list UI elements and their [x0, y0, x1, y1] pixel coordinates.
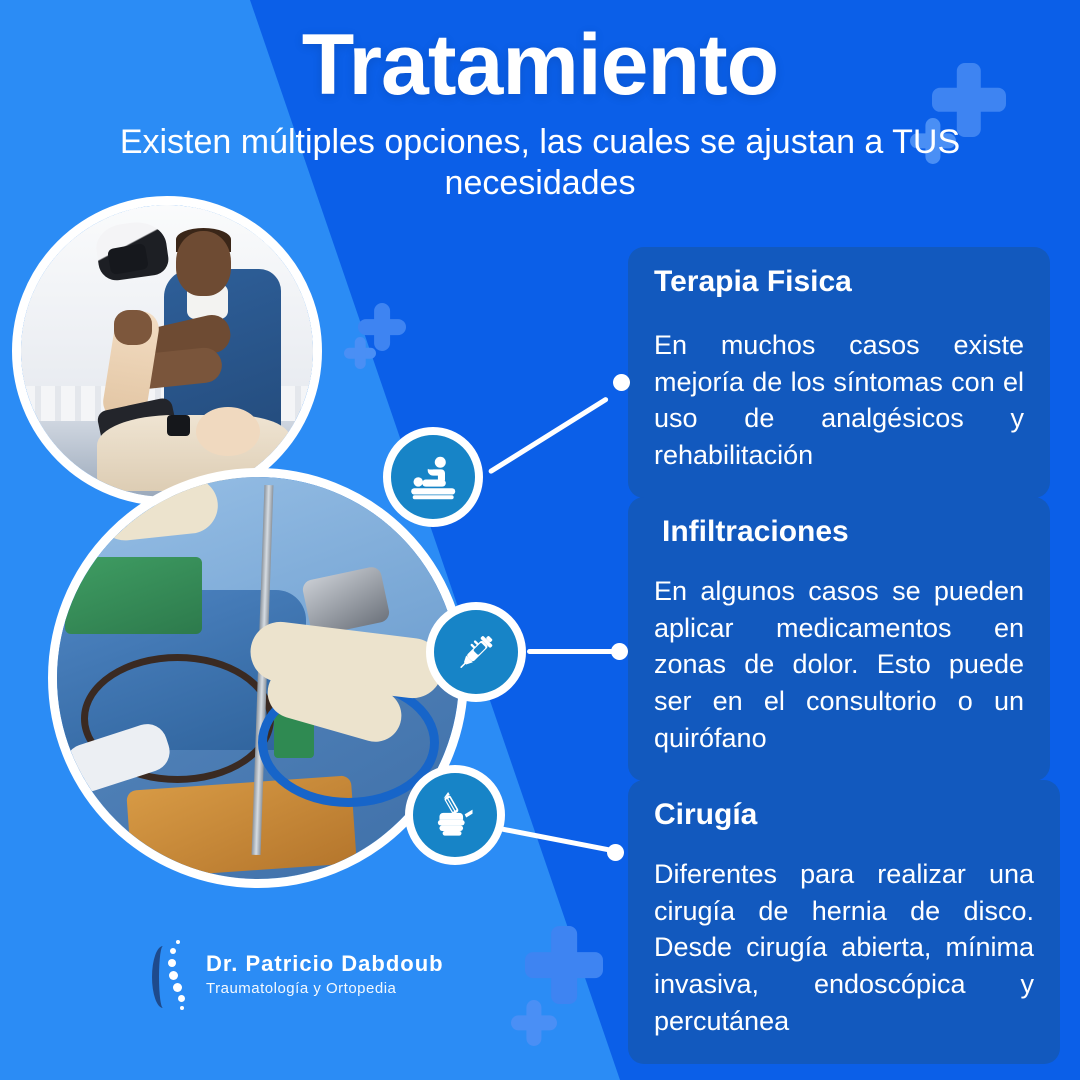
massage-therapy-icon[interactable] [383, 427, 483, 527]
logo-tagline: Traumatología y Ortopedia [206, 980, 444, 997]
hand-scalpel-icon[interactable] [405, 765, 505, 865]
syringe-icon[interactable] [426, 602, 526, 702]
logo-doctor-name: Dr. Patricio Dabdoub [206, 953, 444, 975]
plus-decor-icon [344, 337, 376, 369]
page-subtitle: Existen múltiples opciones, las cuales s… [100, 122, 980, 205]
physical-therapy-photo [12, 196, 322, 506]
card-title: Cirugía [654, 800, 1034, 830]
infographic-canvas: Tratamiento Existen múltiples opciones, … [0, 0, 1080, 1080]
card-body: En algunos casos se pueden aplicar medic… [654, 573, 1024, 757]
plus-decor-icon [525, 926, 603, 1004]
card-terapia-fisica: Terapia Fisica En muchos casos existe me… [628, 247, 1050, 498]
spine-icon [150, 938, 196, 1012]
card-cirugia: Cirugía Diferentes para realizar una cir… [628, 780, 1060, 1064]
header: Tratamiento Existen múltiples opciones, … [0, 0, 1080, 205]
plus-decor-icon [358, 303, 406, 351]
card-infiltraciones: Infiltraciones En algunos casos se puede… [628, 497, 1050, 781]
card-title: Infiltraciones [662, 517, 1024, 547]
plus-decor-icon [511, 1000, 557, 1046]
card-body: Diferentes para realizar una cirugía de … [654, 856, 1034, 1040]
card-body: En muchos casos existe mejoría de los sí… [654, 327, 1024, 474]
spine-surgery-photo [48, 468, 468, 888]
card-title: Terapia Fisica [654, 267, 1024, 297]
page-title: Tratamiento [0, 22, 1080, 108]
brand-logo: Dr. Patricio Dabdoub Traumatología y Ort… [150, 938, 444, 1012]
